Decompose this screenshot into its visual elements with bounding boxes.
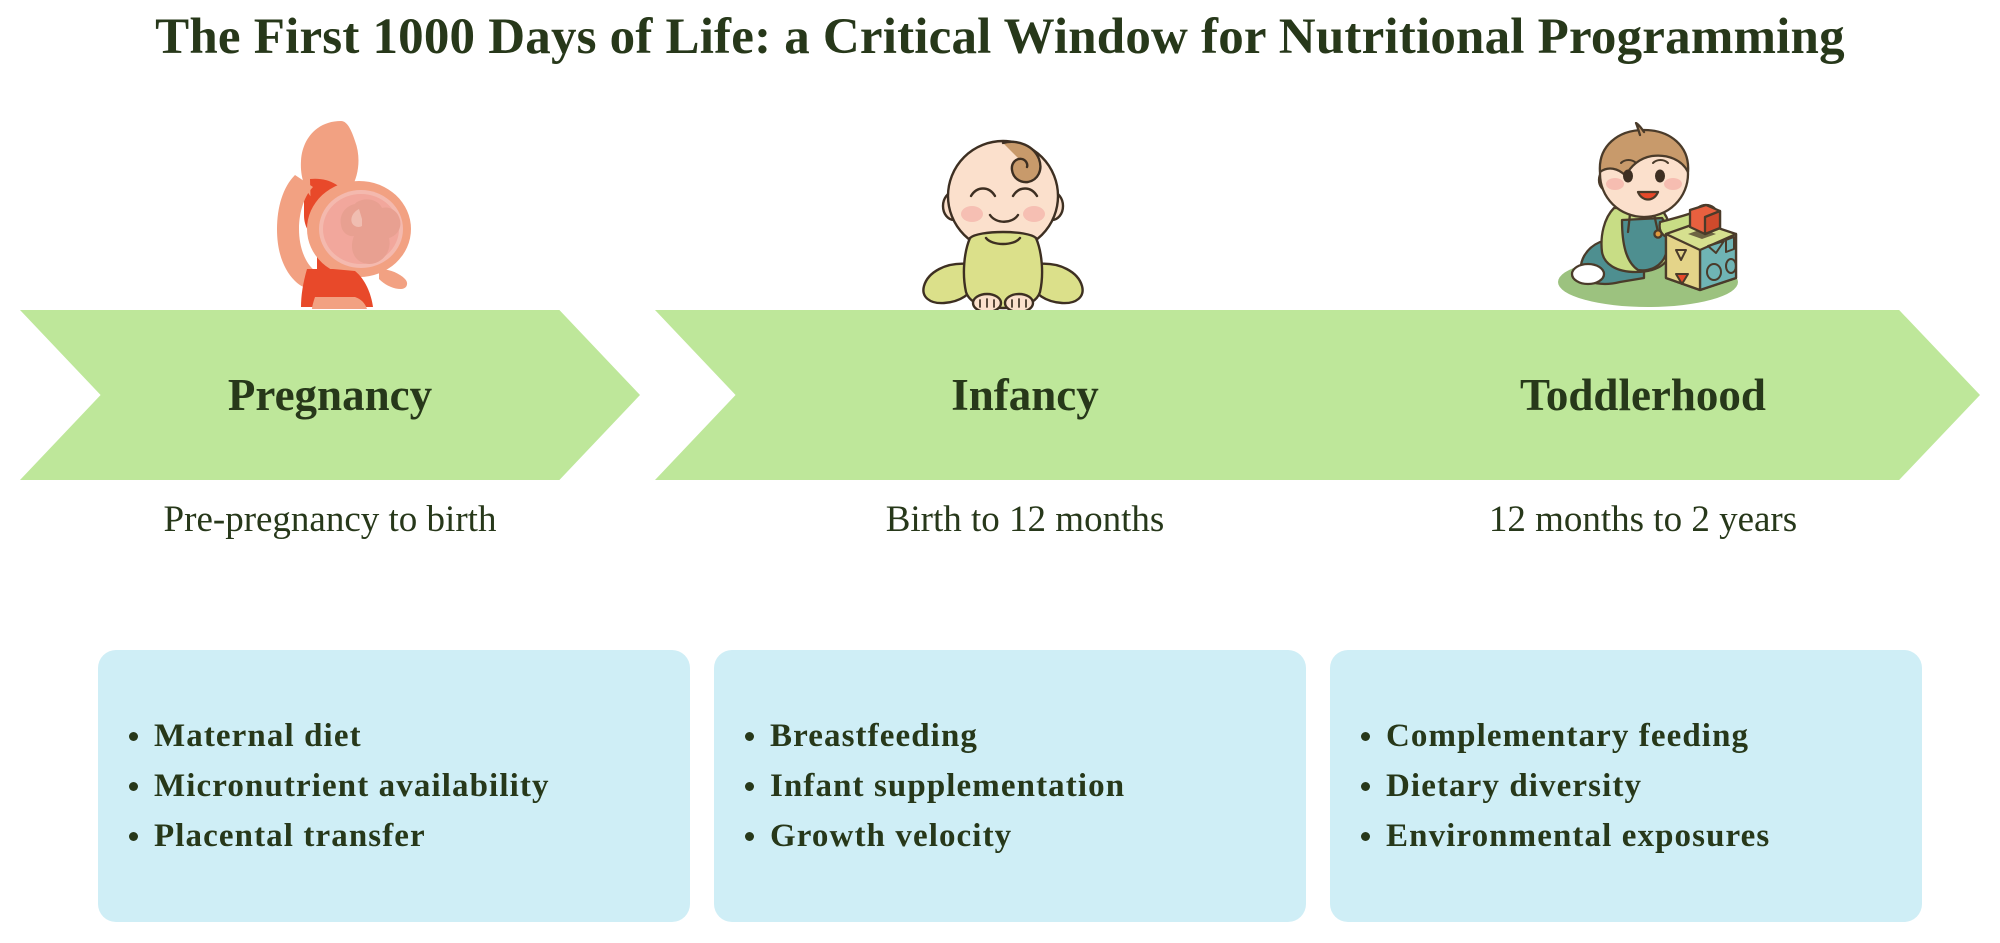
list-item-label: Dietary diversity: [1386, 768, 1642, 804]
bullet-list-pregnancy: Maternal diet Micronutrient availability…: [98, 711, 690, 861]
list-item-label: Maternal diet: [154, 718, 362, 754]
list-item: Breastfeeding: [714, 711, 1306, 761]
list-item: Infant supplementation: [714, 761, 1306, 811]
bullet-dot-icon: [129, 832, 138, 841]
bullet-list-toddlerhood: Complementary feeding Dietary diversity …: [1330, 711, 1922, 861]
list-item-label: Environmental exposures: [1386, 818, 1770, 854]
bullet-card-infancy: Breastfeeding Infant supplementation Gro…: [714, 650, 1306, 922]
list-item-label: Breastfeeding: [770, 718, 978, 754]
caption-toddlerhood: 12 months to 2 years: [1333, 498, 1953, 541]
list-item-label: Placental transfer: [154, 818, 426, 854]
list-item-label: Micronutrient availability: [154, 768, 550, 804]
sitting-baby-illustration: [908, 126, 1098, 316]
list-item-label: Infant supplementation: [770, 768, 1125, 804]
list-item: Growth velocity: [714, 811, 1306, 861]
caption-infancy: Birth to 12 months: [655, 498, 1395, 541]
list-item-label: Growth velocity: [770, 818, 1012, 854]
bullet-dot-icon: [129, 732, 138, 741]
bullet-dot-icon: [1361, 732, 1370, 741]
list-item: Dietary diversity: [1330, 761, 1922, 811]
chevron-label-infancy: Infancy: [655, 310, 1395, 480]
bullet-dot-icon: [1361, 782, 1370, 791]
list-item: Maternal diet: [98, 711, 690, 761]
bullet-list-infancy: Breastfeeding Infant supplementation Gro…: [714, 711, 1306, 861]
bullet-dot-icon: [745, 832, 754, 841]
list-item: Environmental exposures: [1330, 811, 1922, 861]
chevron-label-pregnancy: Pregnancy: [20, 310, 640, 480]
bullet-dot-icon: [745, 732, 754, 741]
list-item-label: Complementary feeding: [1386, 718, 1749, 754]
bullet-card-row: Maternal diet Micronutrient availability…: [0, 650, 2000, 922]
caption-pregnancy: Pre-pregnancy to birth: [20, 498, 640, 541]
chevron-label-toddlerhood: Toddlerhood: [1333, 310, 1953, 480]
list-item: Complementary feeding: [1330, 711, 1922, 761]
bullet-dot-icon: [745, 782, 754, 791]
stage-chevron-band: Pregnancy Infancy Toddlerhood: [0, 310, 2000, 480]
list-item: Placental transfer: [98, 811, 690, 861]
bullet-card-pregnancy: Maternal diet Micronutrient availability…: [98, 650, 690, 922]
bullet-card-toddlerhood: Complementary feeding Dietary diversity …: [1330, 650, 1922, 922]
bullet-dot-icon: [1361, 832, 1370, 841]
list-item: Micronutrient availability: [98, 761, 690, 811]
pregnant-woman-illustration: [255, 119, 425, 314]
bullet-dot-icon: [129, 782, 138, 791]
illustration-row: [0, 0, 2000, 320]
toddler-with-shape-sorter-illustration: [1548, 122, 1748, 312]
